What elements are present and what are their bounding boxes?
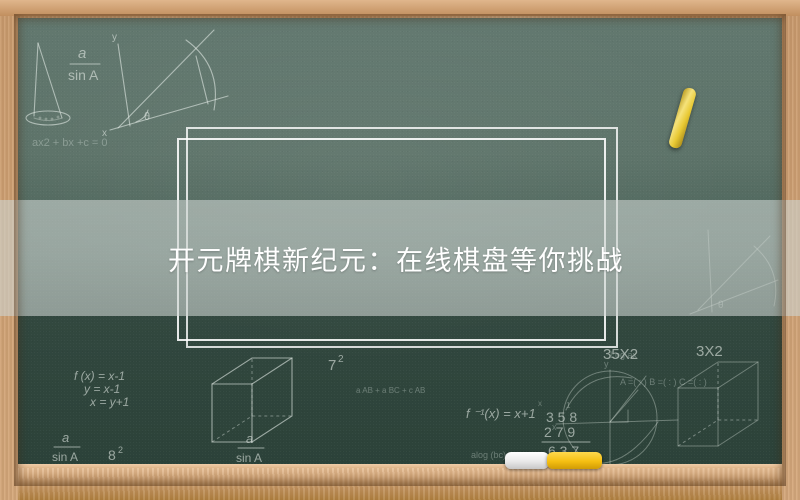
svg-text:2: 2 xyxy=(118,445,123,455)
svg-text:3 5 8: 3 5 8 xyxy=(546,409,577,425)
svg-text:sin A: sin A xyxy=(68,67,99,83)
svg-text:8: 8 xyxy=(108,447,116,463)
multiplication-3x2-text: 3X2 xyxy=(696,343,723,360)
set-notation-text: A =( : ) B =( : ) C =( : ) xyxy=(620,377,707,387)
cube-diagram-left xyxy=(212,358,292,442)
svg-text:f (x) = x-1: f (x) = x-1 xyxy=(74,369,125,383)
yellow-chalk-stick-ledge xyxy=(547,452,602,469)
alog-bc-text: alog (bc) xyxy=(471,450,506,460)
axis-angle-diagram: y x θ xyxy=(102,30,228,139)
headline-banner: 开元牌棋新纪元：在线棋盘等你挑战 xyxy=(0,200,800,316)
svg-text:x: x xyxy=(102,128,107,139)
exponent-7-squared: 7 2 xyxy=(328,354,344,374)
svg-text:a: a xyxy=(78,45,86,62)
white-chalk-stick xyxy=(505,452,549,469)
exponent-8-squared: 8 2 xyxy=(108,445,123,463)
svg-text:2 7 9: 2 7 9 xyxy=(544,424,575,440)
svg-text:sin A: sin A xyxy=(236,451,262,465)
function-equations: f (x) = x-1 y = x-1 x = y+1 xyxy=(74,369,129,409)
svg-text:sin A: sin A xyxy=(52,450,78,464)
chalk-ledge xyxy=(18,468,782,500)
svg-text:y = x-1: y = x-1 xyxy=(83,382,120,396)
svg-text:1: 1 xyxy=(566,401,571,410)
svg-text:y: y xyxy=(112,32,117,43)
svg-text:x: x xyxy=(538,399,542,408)
screenshot-stage: a sin A ax2 + bx +c = 0 y x θ xyxy=(0,0,800,500)
inverse-function-text: f ⁻¹(x) = x+1 xyxy=(466,406,536,421)
svg-text:a: a xyxy=(62,430,69,445)
svg-text:θ: θ xyxy=(144,111,150,123)
log-ax-label: Log ax xyxy=(610,350,638,360)
fraction-a-over-sin-a-3: a sin A xyxy=(236,431,264,465)
fraction-a-over-sin-a: a sin A xyxy=(68,45,100,83)
svg-text:x = y+1: x = y+1 xyxy=(89,395,129,409)
wooden-frame-top-rail xyxy=(0,0,800,16)
fraction-a-over-sin-a-2: a sin A xyxy=(52,430,80,464)
faded-equation-text: a AB + a BC + c AB xyxy=(356,386,425,395)
cone-diagram xyxy=(26,43,70,125)
page-title: 开元牌棋新纪元：在线棋盘等你挑战 xyxy=(168,239,624,278)
quadratic-equation-text: ax2 + bx +c = 0 xyxy=(32,137,108,149)
svg-text:a: a xyxy=(246,431,253,446)
svg-text:2: 2 xyxy=(338,354,344,365)
svg-text:7: 7 xyxy=(328,357,336,374)
cube-diagram-right xyxy=(678,362,758,446)
svg-text:y: y xyxy=(604,359,609,369)
